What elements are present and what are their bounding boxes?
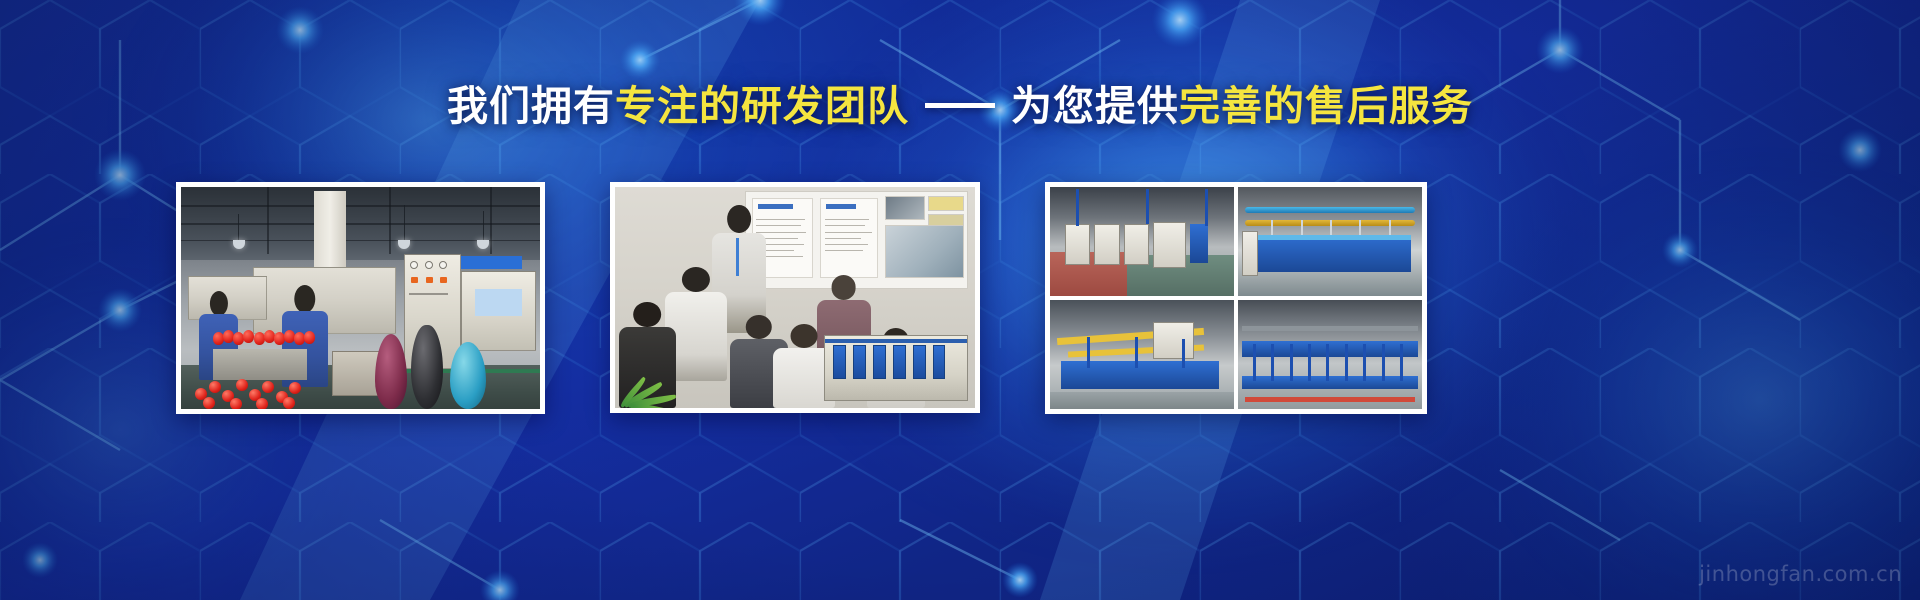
page-title: 我们拥有专注的研发团队为您提供完善的售后服务 xyxy=(0,84,1920,130)
indicator-light xyxy=(411,277,418,283)
lamp-cord xyxy=(404,205,405,241)
decorative-vase-black xyxy=(411,325,443,409)
person-head xyxy=(634,302,662,327)
roof-truss xyxy=(389,187,391,254)
red-bulb-row xyxy=(213,329,314,353)
decorative-vase-blue xyxy=(450,342,486,409)
person-head xyxy=(831,275,856,299)
headline-segment-1: 我们拥有 xyxy=(447,83,615,129)
collage-cell-rack-line xyxy=(1238,300,1422,409)
collage-cell-workshop xyxy=(1050,187,1234,296)
collage-grid xyxy=(1050,187,1422,409)
photo-thumbnail xyxy=(885,196,925,220)
foreground-plant xyxy=(619,333,691,408)
lamp-cord xyxy=(238,214,239,241)
roof-truss xyxy=(181,223,540,225)
indicator-light xyxy=(426,277,433,283)
worker-head xyxy=(210,291,228,316)
worker-head xyxy=(294,285,315,314)
equipment-label xyxy=(461,256,522,269)
red-bulb-pile xyxy=(195,373,317,409)
site-watermark: jinhongfan.com.cn xyxy=(1699,562,1902,586)
photo-panel-rd-meeting[interactable] xyxy=(610,182,980,413)
person-head xyxy=(791,324,818,348)
gauge xyxy=(410,261,418,269)
roof-truss xyxy=(490,187,492,254)
photo-panel-production-line[interactable] xyxy=(176,182,545,414)
gauge xyxy=(439,261,447,269)
panel-seam xyxy=(409,293,448,295)
machine-diagram xyxy=(885,225,964,278)
notice-board xyxy=(475,289,522,316)
roof-truss xyxy=(181,205,540,207)
lamp-cord xyxy=(483,211,484,240)
person-head xyxy=(682,267,710,292)
photo-thumbnail xyxy=(928,196,964,211)
factory-equipment-collage xyxy=(1050,187,1422,409)
rd-team-meeting-photo xyxy=(615,187,975,408)
person-head xyxy=(746,315,772,339)
photo-panel-equipment-collage[interactable] xyxy=(1045,182,1427,414)
person-head xyxy=(727,205,751,233)
promo-banner: 我们拥有专注的研发团队为您提供完善的售后服务 xyxy=(0,0,1920,600)
collage-cell-coating-tunnel xyxy=(1238,187,1422,296)
roof-truss xyxy=(267,187,269,254)
lanyard xyxy=(736,238,739,276)
headline-segment-3: 为您提供 xyxy=(1011,83,1179,129)
headline-segment-2: 专注的研发团队 xyxy=(615,83,909,129)
poster xyxy=(820,198,878,278)
collage-cell-conveyor xyxy=(1050,300,1234,409)
production-line-photo xyxy=(181,187,540,409)
indicator-light xyxy=(440,277,447,283)
machine-display-graphic xyxy=(824,335,968,401)
headline-segment-4: 完善的售后服务 xyxy=(1179,83,1473,129)
gauge xyxy=(425,261,433,269)
photo-panel-group xyxy=(0,182,1920,414)
headline-divider-dash xyxy=(925,103,995,108)
